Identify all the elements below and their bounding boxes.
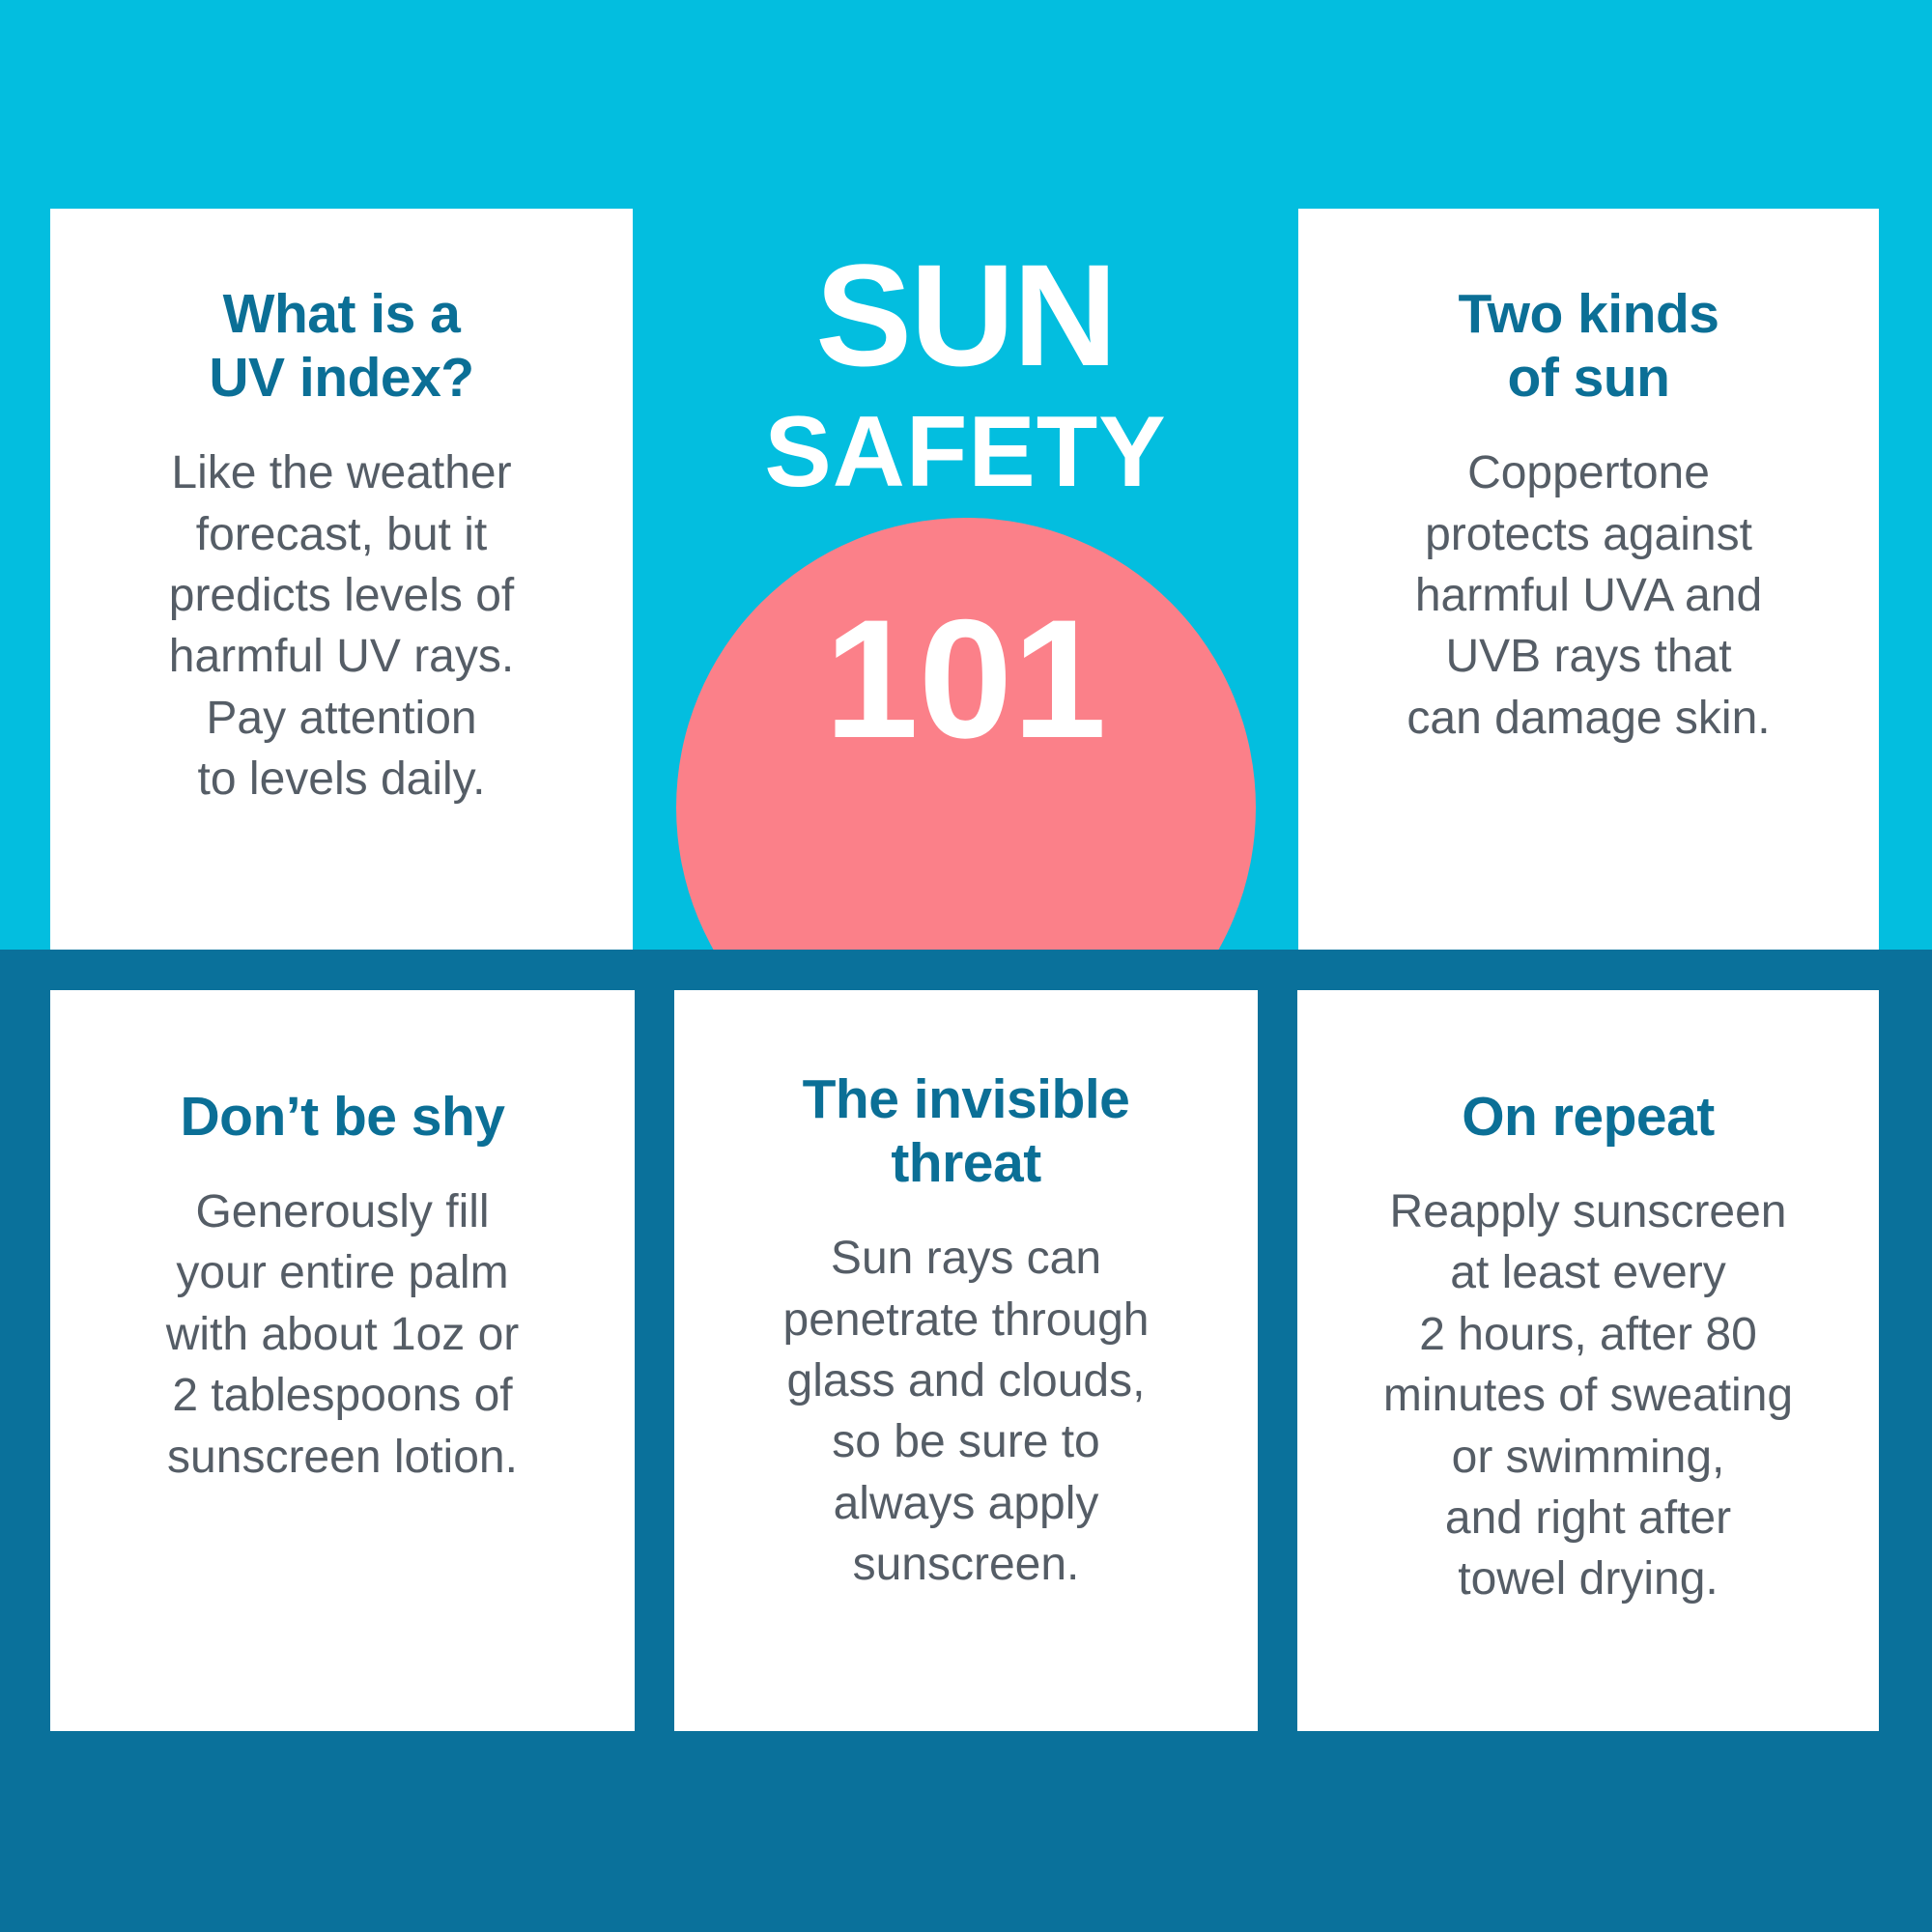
card-uv-index-content: What is a UV index? Like the weather for…	[50, 282, 633, 810]
card-on-repeat-title: On repeat	[1313, 1085, 1863, 1149]
card-invisible-threat-content: The invisible threat Sun rays can penetr…	[674, 1067, 1258, 1595]
card-dont-be-shy: Don’t be shy Generously fill your entire…	[50, 990, 635, 1731]
card-two-kinds-of-sun: Two kinds of sun Coppertone protects aga…	[1298, 209, 1879, 950]
card-uv-index-title: What is a UV index?	[73, 282, 610, 410]
card-uv-index-body: Like the weather forecast, but it predic…	[73, 442, 610, 810]
logo-title-sun: SUN	[633, 242, 1298, 387]
card-two-kinds-of-sun-body: Coppertone protects against harmful UVA …	[1327, 442, 1850, 749]
logo-badge-101: 101	[633, 595, 1298, 764]
card-two-kinds-of-sun-title: Two kinds of sun	[1327, 282, 1850, 410]
card-invisible-threat-body: Sun rays can penetrate through glass and…	[699, 1228, 1233, 1595]
card-on-repeat-content: On repeat Reapply sunscreen at least eve…	[1297, 1085, 1879, 1610]
card-dont-be-shy-content: Don’t be shy Generously fill your entire…	[50, 1085, 635, 1488]
card-two-kinds-of-sun-content: Two kinds of sun Coppertone protects aga…	[1298, 282, 1879, 749]
top-row-clip: What is a UV index? Like the weather for…	[0, 0, 1932, 950]
card-invisible-threat-title: The invisible threat	[699, 1067, 1233, 1195]
card-on-repeat: On repeat Reapply sunscreen at least eve…	[1297, 990, 1879, 1731]
logo-block: SUN SAFETY 101	[633, 209, 1298, 950]
card-dont-be-shy-body: Generously fill your entire palm with ab…	[71, 1181, 613, 1488]
card-uv-index: What is a UV index? Like the weather for…	[50, 209, 633, 950]
logo-title-safety: SAFETY	[633, 402, 1298, 502]
card-dont-be-shy-title: Don’t be shy	[71, 1085, 613, 1149]
sun-safety-infographic: What is a UV index? Like the weather for…	[0, 0, 1932, 1932]
card-on-repeat-body: Reapply sunscreen at least every 2 hours…	[1313, 1181, 1863, 1610]
card-invisible-threat: The invisible threat Sun rays can penetr…	[674, 990, 1258, 1731]
